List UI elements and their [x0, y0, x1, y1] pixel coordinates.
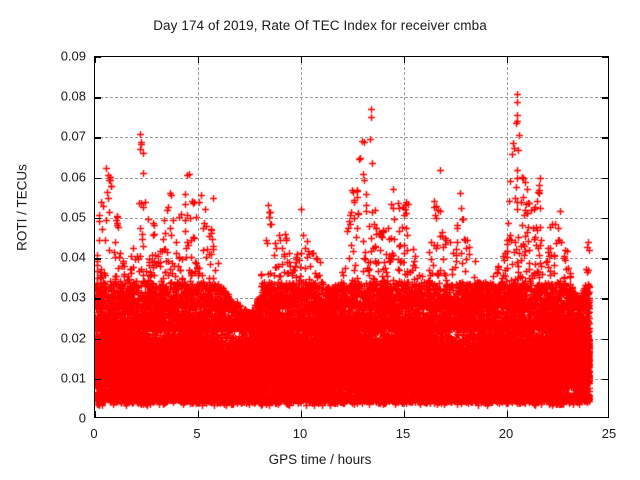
y-tick-mark: [95, 97, 101, 98]
x-tick-label: 5: [167, 426, 227, 441]
y-tick-mark: [95, 379, 101, 380]
x-tick-mark: [95, 57, 96, 63]
x-tick-mark: [95, 411, 96, 417]
y-tick-mark: [602, 97, 608, 98]
x-tick-label: 10: [270, 426, 330, 441]
x-tick-label: 25: [579, 426, 639, 441]
y-tick-mark: [95, 218, 101, 219]
y-tick-mark: [95, 339, 101, 340]
y-tick-mark: [95, 178, 101, 179]
y-tick-label: 0: [30, 411, 86, 426]
x-tick-mark: [198, 57, 199, 63]
x-tick-mark: [404, 411, 405, 417]
x-tick-label: 15: [373, 426, 433, 441]
plot-area: [94, 56, 609, 418]
y-tick-mark: [602, 178, 608, 179]
x-tick-mark: [301, 411, 302, 417]
y-tick-label: 0.08: [30, 89, 86, 104]
x-axis-title: GPS time / hours: [0, 452, 640, 467]
y-tick-mark: [95, 258, 101, 259]
y-tick-mark: [602, 298, 608, 299]
y-tick-label: 0.02: [30, 330, 86, 345]
y-tick-label: 0.06: [30, 169, 86, 184]
roti-scatter-figure: Day 174 of 2019, Rate Of TEC Index for r…: [0, 0, 640, 480]
x-tick-label: 20: [476, 426, 536, 441]
x-tick-mark: [301, 57, 302, 63]
y-tick-label: 0.04: [30, 250, 86, 265]
y-tick-mark: [602, 258, 608, 259]
y-tick-mark: [602, 137, 608, 138]
y-tick-mark: [602, 339, 608, 340]
y-tick-label: 0.05: [30, 209, 86, 224]
y-tick-label: 0.01: [30, 370, 86, 385]
x-tick-label: 0: [64, 426, 124, 441]
y-tick-mark: [95, 298, 101, 299]
y-axis-title: ROTI / TECUs: [15, 108, 30, 308]
y-tick-mark: [602, 57, 608, 58]
page-title: Day 174 of 2019, Rate Of TEC Index for r…: [0, 18, 640, 33]
x-tick-mark: [507, 57, 508, 63]
y-tick-label: 0.03: [30, 290, 86, 305]
x-tick-mark: [404, 57, 405, 63]
y-tick-mark: [602, 218, 608, 219]
x-tick-mark: [507, 411, 508, 417]
y-tick-label: 0.09: [30, 49, 86, 64]
y-tick-label: 0.07: [30, 129, 86, 144]
y-tick-mark: [95, 137, 101, 138]
scatter-points: [95, 57, 609, 418]
x-tick-mark: [198, 411, 199, 417]
y-tick-mark: [602, 379, 608, 380]
